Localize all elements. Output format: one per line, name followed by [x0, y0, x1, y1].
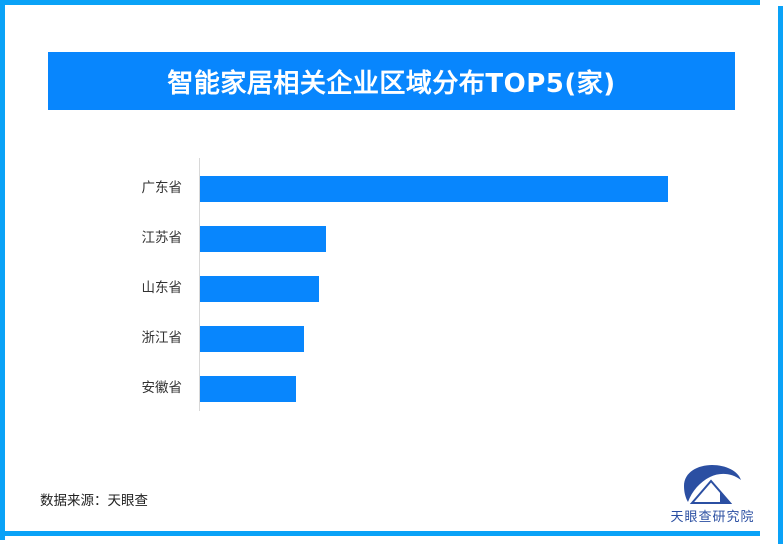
- page-title: 智能家居相关企业区域分布TOP5(家): [167, 63, 615, 100]
- category-label: 山东省: [62, 278, 182, 298]
- bar-row: 安徽省: [0, 364, 783, 414]
- category-label: 浙江省: [62, 328, 182, 348]
- bar-zhejiang: [200, 326, 304, 352]
- brand-logo-text: 天眼查研究院: [660, 506, 765, 525]
- frame-border-top: [0, 0, 760, 5]
- bar-guangdong: [200, 176, 668, 202]
- category-label: 广东省: [62, 178, 182, 198]
- chart-page: 智能家居相关企业区域分布TOP5(家) 广东省 江苏省 山东省 浙江省 安徽省 …: [0, 0, 783, 544]
- bar-anhui: [200, 376, 296, 402]
- bar-jiangsu: [200, 226, 326, 252]
- chart-title-banner: 智能家居相关企业区域分布TOP5(家): [48, 52, 735, 110]
- bar-shandong: [200, 276, 319, 302]
- category-label: 江苏省: [62, 228, 182, 248]
- bar-row: 山东省: [0, 264, 783, 314]
- bar-row: 江苏省: [0, 214, 783, 264]
- bar-chart: 广东省 江苏省 山东省 浙江省 安徽省: [0, 150, 783, 410]
- tianyancha-eye-logo-icon: [680, 464, 742, 504]
- bar-row: 浙江省: [0, 314, 783, 364]
- frame-border-bottom: [0, 531, 760, 536]
- category-label: 安徽省: [62, 378, 182, 398]
- bar-row: 广东省: [0, 164, 783, 214]
- data-source-note: 数据来源：天眼查: [40, 489, 148, 509]
- brand-logo: 天眼查研究院: [660, 464, 765, 526]
